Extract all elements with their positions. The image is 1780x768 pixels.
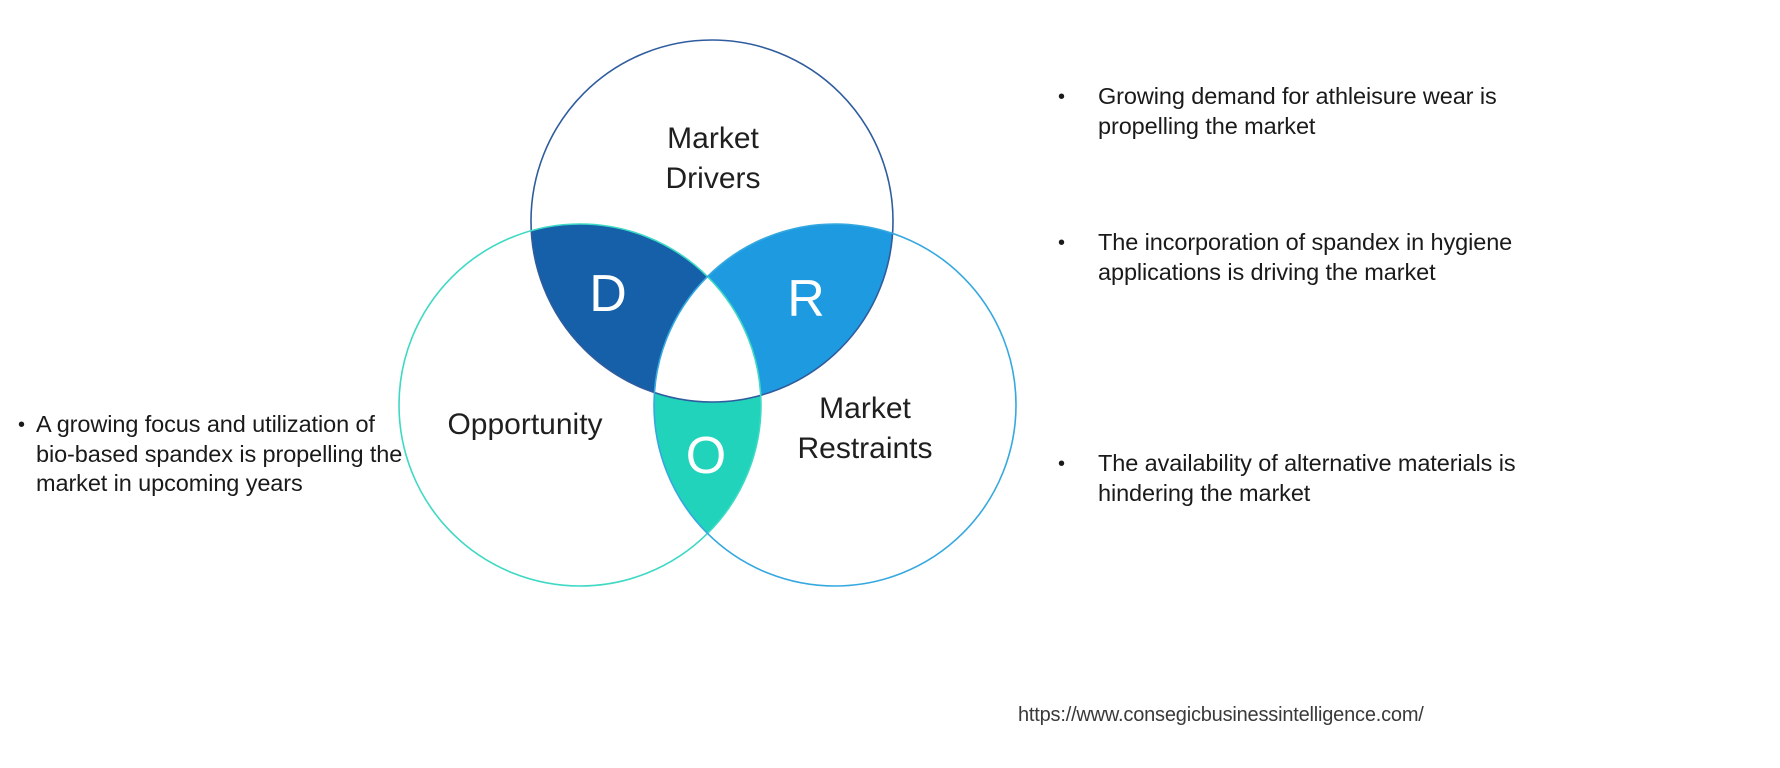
source-url[interactable]: https://www.consegicbusinessintelligence… [1018, 702, 1518, 728]
bullet-icon: • [18, 410, 36, 435]
lens-letter-r: R [787, 270, 825, 328]
bullet-icon: • [1058, 449, 1098, 474]
circle-label-restraints-line2: Restraints [797, 432, 932, 465]
bullet-icon: • [1058, 82, 1098, 107]
callout-driver-1: • Growing demand for athleisure wear is … [1058, 82, 1528, 141]
venn-diagram-svg: Market Drivers Opportunity Market Restra… [380, 10, 1040, 620]
callout-restraint-1: • The availability of alternative materi… [1058, 449, 1528, 508]
callout-driver-1-text: Growing demand for athleisure wear is pr… [1098, 82, 1528, 141]
circle-label-drivers-line2: Drivers [666, 162, 761, 195]
circle-label-restraints-line1: Market [819, 392, 911, 425]
lens-letter-d: D [589, 265, 627, 323]
venn-diagram: Market Drivers Opportunity Market Restra… [380, 10, 1040, 620]
bullet-icon: • [1058, 228, 1098, 253]
callout-restraint-1-text: The availability of alternative material… [1098, 449, 1528, 508]
callout-opportunity-text: A growing focus and utilization of bio-b… [36, 410, 406, 499]
callout-driver-2-text: The incorporation of spandex in hygiene … [1098, 228, 1528, 287]
lens-letter-o: O [686, 427, 726, 485]
infographic-canvas: Market Drivers Opportunity Market Restra… [0, 0, 1780, 768]
callout-driver-2: • The incorporation of spandex in hygien… [1058, 228, 1528, 287]
circle-label-drivers-line1: Market [667, 122, 759, 155]
venn-lens-group [399, 224, 1016, 586]
circle-label-opportunity: Opportunity [447, 408, 602, 441]
callout-opportunity: • A growing focus and utilization of bio… [18, 410, 406, 499]
